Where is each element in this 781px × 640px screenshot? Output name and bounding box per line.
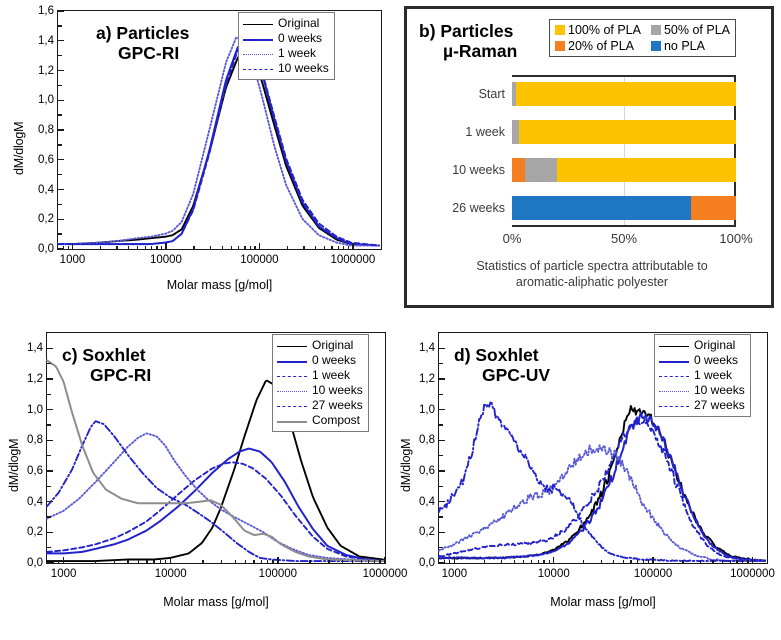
x-tick-mark-minor [238,246,239,250]
y-tick-label: 0,4 [38,184,54,196]
x-tick-mark-minor [160,560,161,564]
y-tick-mark [439,378,445,379]
bar-category-label: Start [479,87,505,101]
legend-item: 27 weeks [659,398,745,413]
x-tick-mark-minor [722,560,723,564]
y-tick-mark [58,70,64,71]
x-tick-mark-minor [531,560,532,564]
x-tick-mark-minor [287,246,288,250]
legend-key-icon [277,355,307,366]
x-tick-mark [63,557,64,563]
x-tick-mark-minor [583,560,584,564]
y-tick-mark-minor [439,394,443,395]
legend-label: 1 week [312,368,350,382]
x-tick-mark-minor [637,560,638,564]
x-tick-mark-minor [444,560,445,564]
y-tick-mark-minor [47,394,51,395]
legend-label: Compost [312,413,360,427]
legend-key-icon [243,18,273,29]
y-tick-mark [58,219,64,220]
panel-d-soxhlet-gpc-uv: 0,00,20,40,60,81,01,21,41000100001000001… [390,320,781,640]
legend-key-icon [659,400,689,411]
panel-d-title: d) SoxhletGPC-UV [454,345,550,386]
x-tick-mark-minor [352,560,353,564]
x-tick-label: 1000000 [330,254,375,266]
panel-c-y-axis-title: dM/dlogM [7,439,21,492]
y-tick-label: 0,4 [27,496,43,508]
y-tick-mark-minor [439,424,443,425]
y-tick-label: 0,8 [27,434,43,446]
legend-label: 0 weeks [278,31,322,45]
legend-label: 10 weeks [278,61,329,75]
series-line-1-week [439,419,765,562]
x-tick-label: 1000 [60,254,86,266]
x-tick-label: 50% [611,231,637,246]
y-tick-mark [58,129,64,130]
x-tick-label: 10000 [155,568,187,580]
x-tick-label: 10000 [150,254,182,266]
x-tick-mark-minor [747,560,748,564]
legend-item: 20% of PLA [555,39,641,53]
x-tick-label: 0% [503,231,522,246]
legend-label: Original [312,338,353,352]
y-tick-label: 0,2 [419,526,435,538]
legend-swatch-icon [651,41,661,51]
y-tick-mark [47,501,53,502]
y-tick-label: 0,8 [38,124,54,136]
bar-segment-100-of-pla [516,82,736,106]
bar-segment-20-of-pla [512,158,525,182]
panel-a-title-line2: GPC-RI [118,43,179,63]
y-tick-label: 0,0 [27,557,43,569]
panel-c-x-axis-title: Molar mass [g/mol] [46,595,386,609]
figure-root: 0,00,20,40,60,81,01,21,41,61000100001000… [0,0,781,640]
legend-label: Original [694,338,735,352]
y-tick-mark [47,348,53,349]
x-tick-label: 1000000 [730,568,775,580]
x-tick-mark-minor [331,246,332,250]
bar-segment-100-of-pla [557,158,736,182]
panel-d-legend: Original0 weeks1 week10 weeks27 weeks [654,334,751,417]
stacked-bar [512,82,736,106]
x-tick-mark-minor [63,246,64,250]
legend-key-icon [277,400,307,411]
panel-b-title-line2: µ-Raman [443,41,517,61]
x-tick-mark-minor [128,246,129,250]
y-tick-mark-minor [439,547,443,548]
x-tick-mark-minor [127,560,128,564]
axis-line [512,225,736,227]
y-tick-mark [58,189,64,190]
y-tick-mark-minor [47,516,51,517]
x-tick-mark-minor [328,560,329,564]
panel-b-plot-area: Start1 week10 weeks26 weeks0%50%100% [512,75,736,227]
x-tick-mark-minor [231,246,232,250]
x-tick-mark-minor [742,560,743,564]
x-tick-mark-minor [315,246,316,250]
x-tick-mark [259,243,260,249]
panel-b-particles-uraman: b) Particlesµ-Raman 100% of PLA50% of PL… [404,6,774,308]
x-tick-mark [553,557,554,563]
y-tick-mark-minor [58,85,62,86]
panel-a-y-axis-title: dM/dlogM [12,122,26,175]
legend-label: 10 weeks [312,383,363,397]
series-line-original [439,406,765,561]
legend-label: 1 week [694,368,732,382]
legend-item: 100% of PLA [555,23,641,37]
y-tick-mark [439,501,445,502]
legend-label: no PLA [664,39,705,53]
bar-category-label: 10 weeks [452,163,505,177]
x-tick-mark [384,557,385,563]
y-tick-mark-minor [47,486,51,487]
x-tick-mark-minor [361,560,362,564]
y-tick-mark [47,470,53,471]
legend-label: 1 week [278,46,316,60]
legend-key-icon [277,385,307,396]
x-tick-mark-minor [114,560,115,564]
legend-item: 10 weeks [243,61,329,76]
y-tick-mark-minor [58,204,62,205]
y-tick-mark-minor [58,174,62,175]
x-tick-label: 100% [719,231,752,246]
x-tick-mark-minor [221,560,222,564]
x-tick-mark-minor [601,560,602,564]
x-tick-mark-minor [736,560,737,564]
y-tick-label: 0,0 [38,243,54,255]
y-tick-label: 1,4 [419,342,435,354]
legend-label: 20% of PLA [568,39,634,53]
panel-b-title-line1: b) Particles [419,21,513,41]
panel-b-legend: 100% of PLA50% of PLA20% of PLAno PLA [549,19,736,57]
panel-c-title: c) SoxhletGPC-RI [62,345,151,386]
x-tick-mark [454,557,455,563]
x-tick-mark-minor [261,560,262,564]
x-tick-mark-minor [68,246,69,250]
x-tick-mark-minor [156,246,157,250]
y-tick-mark [47,378,53,379]
y-tick-label: 0,6 [38,154,54,166]
legend-item: 0 weeks [243,31,329,46]
bar-category-label: 1 week [465,125,505,139]
y-tick-mark [47,409,53,410]
x-tick-mark [170,557,171,563]
legend-item: no PLA [651,39,730,53]
legend-item: 1 week [277,368,363,383]
y-tick-mark [439,348,445,349]
legend-label: 27 weeks [694,398,745,412]
panel-a-title-line1: a) Particles [96,23,189,43]
x-tick-mark-minor [623,560,624,564]
y-tick-mark [58,100,64,101]
x-tick-mark-minor [161,246,162,250]
y-tick-mark-minor [58,144,62,145]
x-tick-mark-minor [138,560,139,564]
y-tick-mark [58,40,64,41]
legend-key-icon [659,385,689,396]
axis-line [512,75,736,77]
panel-a-particles-gpc-ri: 0,00,20,40,60,81,01,21,41,61000100001000… [0,0,400,320]
legend-label: 100% of PLA [568,23,641,37]
y-tick-mark [58,10,64,11]
x-tick-mark-minor [630,560,631,564]
x-tick-mark-minor [368,560,369,564]
x-tick-mark-minor [379,560,380,564]
x-tick-mark-minor [254,246,255,250]
x-tick-mark-minor [343,246,344,250]
legend-item: 50% of PLA [651,23,730,37]
y-tick-mark [439,440,445,441]
x-tick-label: 100000 [634,568,672,580]
x-tick-mark-minor [549,560,550,564]
stacked-bar [512,158,736,182]
y-tick-mark-minor [58,55,62,56]
x-tick-mark-minor [95,560,96,564]
legend-item: 0 weeks [277,353,363,368]
bar-segment-100-of-pla [519,120,736,144]
x-tick-mark-minor [153,560,154,564]
panel-c-title-line1: c) Soxhlet [62,345,146,365]
legend-key-icon [243,48,273,59]
x-tick-mark-minor [648,560,649,564]
panel-c-legend: Original0 weeks1 week10 weeks27 weeksCom… [272,334,369,432]
y-tick-mark-minor [47,363,51,364]
x-tick-label: 1000 [442,568,468,580]
x-tick-mark-minor [348,246,349,250]
y-tick-mark-minor [47,547,51,548]
panel-d-title-line1: d) Soxhlet [454,345,539,365]
x-tick-mark [352,243,353,249]
x-tick-label: 1000 [51,568,77,580]
y-tick-mark-minor [58,25,62,26]
y-tick-label: 1,0 [27,404,43,416]
x-tick-mark-minor [193,246,194,250]
bar-segment-50-of-pla [525,158,556,182]
y-tick-label: 0,8 [419,434,435,446]
x-tick-mark-minor [303,246,304,250]
legend-label: 27 weeks [312,398,363,412]
x-tick-mark-minor [643,560,644,564]
legend-item: 0 weeks [659,353,745,368]
panel-c-soxhlet-gpc-ri: 0,00,20,40,60,81,01,21,41000100001000001… [0,320,400,640]
x-tick-mark-minor [210,246,211,250]
legend-label: 0 weeks [312,353,356,367]
x-tick-mark-minor [613,560,614,564]
y-tick-mark [47,532,53,533]
x-tick-mark-minor [100,246,101,250]
legend-key-icon [277,340,307,351]
x-tick-mark-minor [523,560,524,564]
legend-item: 1 week [243,46,329,61]
legend-item: 10 weeks [277,383,363,398]
legend-key-icon [659,340,689,351]
x-tick-mark [277,557,278,563]
legend-key-icon [243,33,273,44]
x-tick-mark-minor [245,560,246,564]
y-tick-label: 0,6 [27,465,43,477]
y-tick-mark-minor [439,363,443,364]
series-line-27-weeks [47,421,383,561]
x-tick-mark-minor [272,560,273,564]
x-tick-mark-minor [514,560,515,564]
x-tick-label: 100000 [240,254,278,266]
series-line-0-weeks [439,413,765,561]
y-tick-label: 0,6 [419,465,435,477]
y-tick-mark [47,440,53,441]
x-tick-mark-minor [202,560,203,564]
x-tick-mark-minor [53,560,54,564]
legend-swatch-icon [555,25,565,35]
legend-key-icon [243,63,273,74]
legend-swatch-icon [555,41,565,51]
x-tick-mark-minor [244,246,245,250]
x-tick-label: 100000 [259,568,297,580]
x-tick-mark-minor [700,560,701,564]
x-tick-mark-minor [342,560,343,564]
bar-segment-20-of-pla [691,196,736,220]
panel-c-title-line2: GPC-RI [90,365,151,385]
legend-swatch-icon [651,25,661,35]
y-tick-label: 0,0 [419,557,435,569]
y-tick-mark-minor [58,233,62,234]
x-tick-mark-minor [222,246,223,250]
x-tick-mark-minor [165,560,166,564]
x-tick-mark [72,243,73,249]
x-tick-mark [752,557,753,563]
legend-item: 27 weeks [277,398,363,413]
panel-d-y-axis-title: dM/dlogM [399,439,413,492]
legend-label: 50% of PLA [664,23,730,37]
y-tick-mark [439,532,445,533]
bar-category-label: 26 weeks [452,201,505,215]
x-tick-mark-minor [501,560,502,564]
x-tick-mark [652,557,653,563]
x-tick-mark-minor [235,560,236,564]
legend-item: 1 week [659,368,745,383]
x-tick-mark-minor [145,246,146,250]
y-tick-label: 1,2 [419,373,435,385]
y-tick-mark [439,409,445,410]
x-tick-mark-minor [374,560,375,564]
y-tick-mark [439,470,445,471]
x-tick-mark-minor [267,560,268,564]
legend-key-icon [659,370,689,381]
panel-d-title-line2: GPC-UV [482,365,550,385]
x-tick-mark-minor [538,560,539,564]
x-tick-mark-minor [730,560,731,564]
y-tick-label: 1,2 [38,65,54,77]
legend-key-icon [277,415,307,426]
legend-key-icon [277,370,307,381]
y-tick-label: 1,4 [38,35,54,47]
legend-item: Compost [277,413,363,428]
legend-item: Original [659,338,745,353]
panel-a-title: a) ParticlesGPC-RI [96,23,189,64]
y-tick-label: 1,0 [419,404,435,416]
y-tick-mark-minor [439,516,443,517]
y-tick-label: 0,2 [27,526,43,538]
series-line-10-weeks [439,445,765,561]
x-tick-mark-minor [58,560,59,564]
y-tick-mark-minor [439,486,443,487]
y-tick-mark-minor [47,455,51,456]
x-tick-mark-minor [338,246,339,250]
y-tick-mark-minor [47,424,51,425]
series-line-27-weeks [439,403,765,562]
legend-label: 0 weeks [694,353,738,367]
x-tick-mark-minor [151,246,152,250]
x-tick-mark-minor [146,560,147,564]
panel-a-x-axis-title: Molar mass [g/mol] [57,278,382,292]
y-tick-label: 1,6 [38,5,54,17]
stacked-bar [512,120,736,144]
y-tick-label: 1,4 [27,342,43,354]
legend-key-icon [659,355,689,366]
y-tick-mark-minor [439,455,443,456]
stacked-bar [512,196,736,220]
x-tick-mark-minor [250,246,251,250]
x-tick-label: 10000 [538,568,570,580]
x-tick-mark [165,243,166,249]
y-tick-mark-minor [58,114,62,115]
x-tick-mark-minor [137,246,138,250]
y-tick-label: 1,2 [27,373,43,385]
bar-segment-50-of-pla [512,120,519,144]
y-tick-label: 0,4 [419,496,435,508]
panel-b-title: b) Particlesµ-Raman [419,21,517,62]
x-tick-mark-minor [449,560,450,564]
x-tick-mark-minor [682,560,683,564]
x-tick-mark-minor [253,560,254,564]
x-tick-mark-minor [543,560,544,564]
x-tick-mark-minor [309,560,310,564]
x-tick-mark-minor [484,560,485,564]
legend-item: 10 weeks [659,383,745,398]
x-tick-mark-minor [116,246,117,250]
panel-b-caption: Statistics of particle spectra attributa… [417,259,767,290]
x-tick-mark-minor [324,246,325,250]
series-line-10-weeks [47,433,383,561]
y-tick-label: 0,2 [38,213,54,225]
y-tick-mark [58,159,64,160]
legend-label: 10 weeks [694,383,745,397]
y-tick-label: 1,0 [38,94,54,106]
panel-d-x-axis-title: Molar mass [g/mol] [438,595,768,609]
legend-item: Original [243,16,329,31]
x-tick-mark-minor [712,560,713,564]
bar-segment-no-pla [512,196,691,220]
legend-label: Original [278,16,319,30]
legend-item: Original [277,338,363,353]
series-line-original [58,51,379,245]
panel-a-legend: Original0 weeks1 week10 weeks [238,12,335,80]
